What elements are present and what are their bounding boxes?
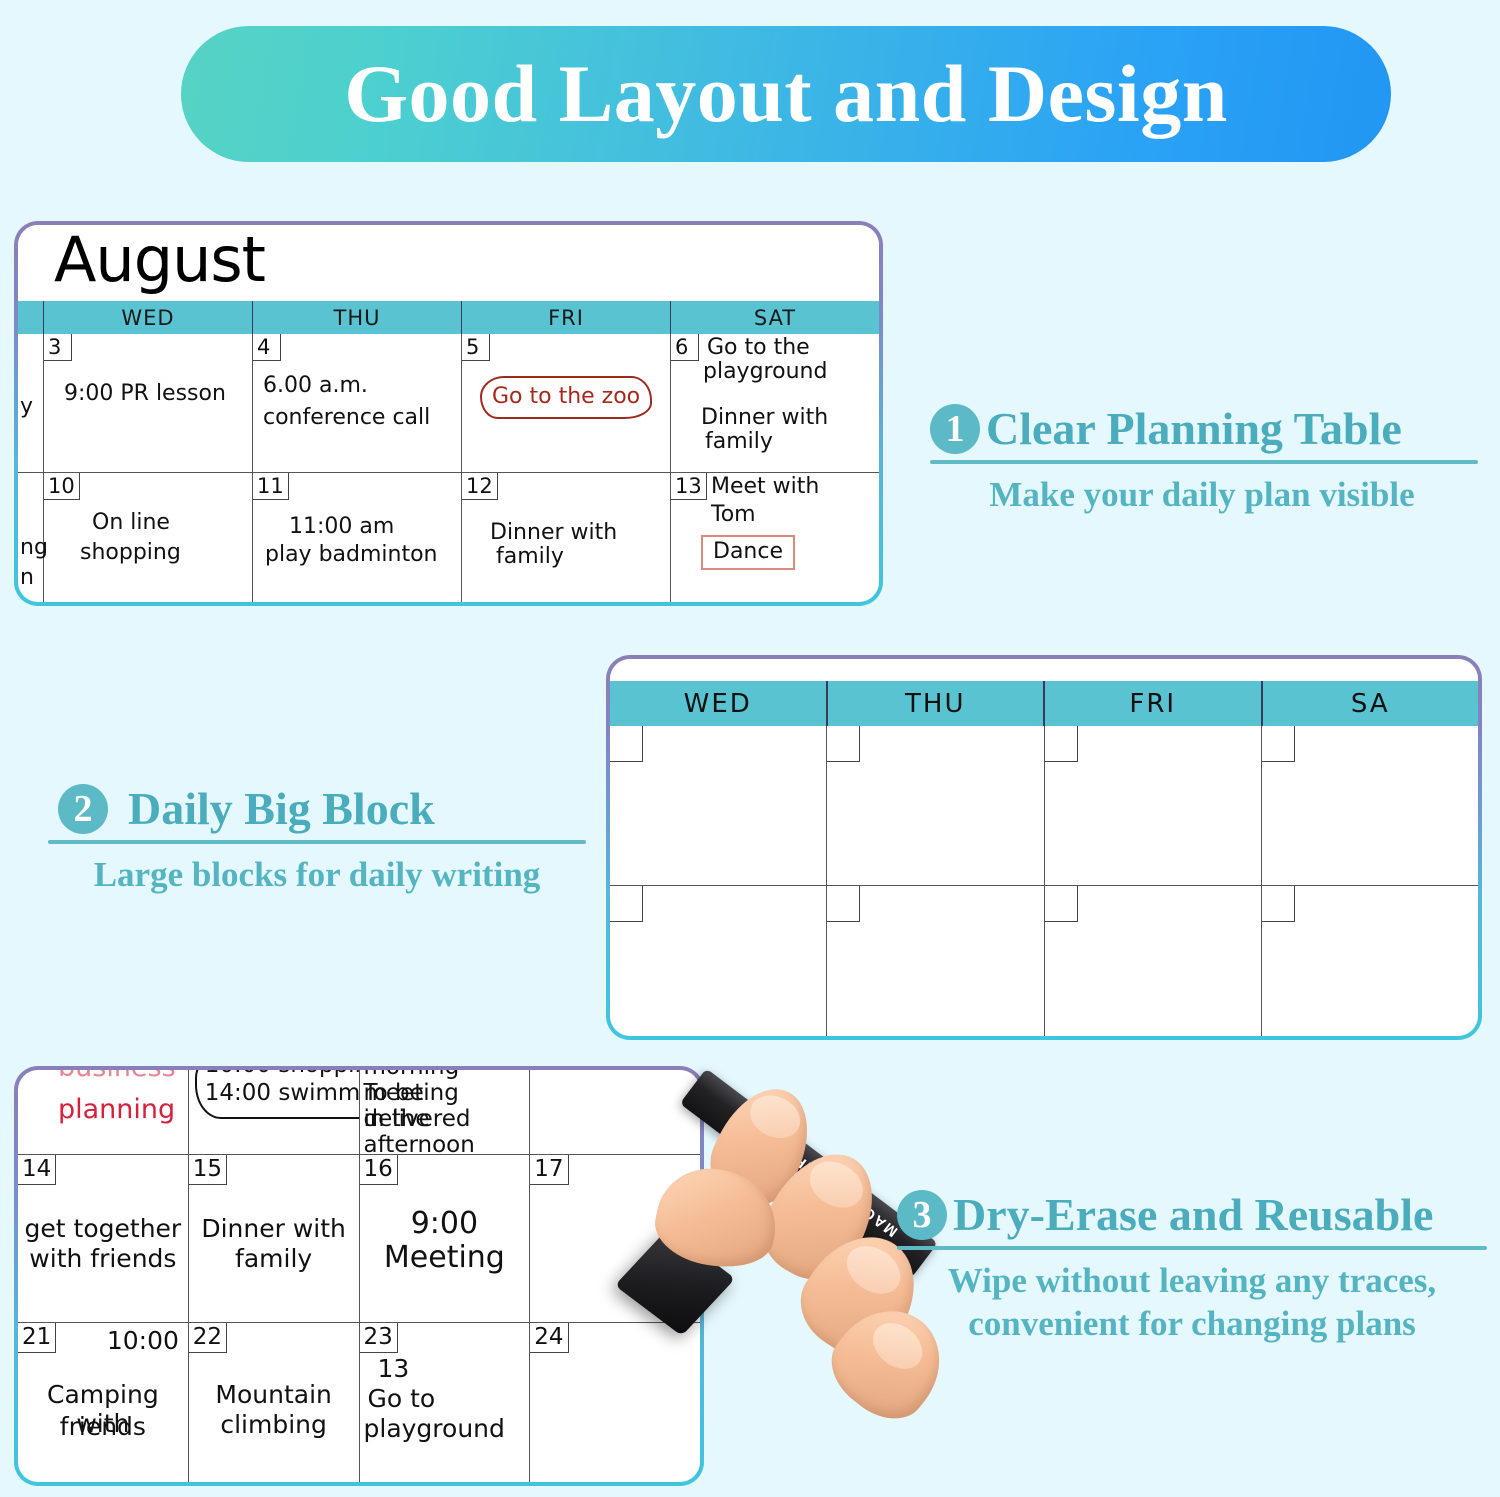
calendar-top-margin [610, 659, 1478, 681]
calendar-day-cell[interactable] [827, 886, 1044, 1037]
day-number-box [610, 886, 643, 922]
weekday-header-fri: FRI [1045, 681, 1263, 726]
day-number-box [827, 886, 860, 922]
feature-subtitle-line-1: Wipe without leaving any traces, [897, 1260, 1487, 1301]
annotation-line: 14:00 swimming [205, 1080, 360, 1108]
weekday-header-sat: SAT [671, 301, 879, 334]
event-text: Dinner with [490, 521, 617, 545]
feature-number-badge: 2 [58, 784, 108, 834]
event-text: 6.00 a.m. [263, 374, 368, 398]
calendar-week-row [610, 726, 1478, 886]
day-number: 12 [462, 473, 498, 500]
calendar-day-cell-10[interactable]: 10 On line shopping [44, 473, 253, 603]
event-text: get together [18, 1215, 188, 1244]
event-text-planning: planning [58, 1094, 175, 1125]
event-text: Go to the [707, 336, 810, 360]
calendar-day-cell-5[interactable]: 5 Go to the zoo [462, 334, 671, 472]
calendar-day-cell-4[interactable]: 4 6.00 a.m. conference call [253, 334, 462, 472]
calendar-day-cell-shopping-swimming[interactable]: 10:00 shopping 14:00 swimming [189, 1070, 360, 1154]
day-number: 6 [671, 334, 699, 361]
feature-divider [930, 460, 1478, 464]
calendar-day-cell-11[interactable]: 11 11:00 am play badminton [253, 473, 462, 603]
calendar-weekday-header-row: WED THU FRI SAT [18, 301, 879, 334]
finger-index [697, 1073, 827, 1219]
calendar-day-cell-12[interactable]: 12 Dinner with family [462, 473, 671, 603]
event-text: 9:00 [360, 1207, 530, 1242]
calendar-board-blank: WED THU FRI SA [606, 655, 1482, 1040]
day-number: 24 [530, 1323, 568, 1353]
feature-block-1: 1 Clear Planning Table Make your daily p… [930, 404, 1478, 515]
calendar-month-header: August [18, 225, 879, 301]
day-number-box [610, 726, 643, 762]
event-text: Meet with [711, 475, 819, 499]
feature-subtitle: Make your daily plan visible [930, 474, 1478, 515]
weekday-header-wed: WED [610, 681, 828, 726]
calendar-day-cell-22[interactable]: 22 Mountain climbing [189, 1323, 360, 1482]
event-text: in the afternoon [364, 1106, 531, 1154]
event-text: family [496, 545, 564, 569]
day-number: 22 [189, 1323, 227, 1353]
weekday-header-sat: SA [1263, 681, 1479, 726]
weekday-header-wed: WED [44, 301, 253, 334]
fingernail [743, 1087, 807, 1146]
header-banner: Good Layout and Design [181, 26, 1391, 162]
day-number-box [1045, 886, 1078, 922]
day-number: 11 [253, 473, 289, 500]
annotation-line: 10:00 shopping [205, 1070, 360, 1080]
event-text: family [705, 430, 773, 454]
day-number-box [827, 726, 860, 762]
event-text: Go to [360, 1385, 538, 1414]
event-text: playground [360, 1415, 534, 1444]
feature-title: Clear Planning Table [986, 406, 1402, 452]
calendar-day-cell[interactable] [610, 886, 827, 1037]
calendar-weekday-header-row: WED THU FRI SA [610, 681, 1478, 726]
calendar-day-cell[interactable] [610, 726, 827, 885]
event-text: Dinner with [701, 406, 828, 430]
calendar-day-cell[interactable] [1262, 726, 1478, 885]
event-text: Dinner with [189, 1215, 359, 1244]
calendar-day-cell-business-planning[interactable]: business planning [18, 1070, 189, 1154]
day-number: 4 [253, 334, 281, 361]
weekday-header-thu: THU [253, 301, 462, 334]
event-text: Tom [711, 503, 756, 527]
feature-number-badge: 1 [930, 404, 980, 454]
calendar-day-cell[interactable] [1045, 726, 1262, 885]
event-text: 9:00 PR lesson [64, 382, 226, 406]
calendar-day-cell-15[interactable]: 15 Dinner with family [189, 1155, 360, 1322]
row-edge-fragment-cell: y [18, 334, 44, 472]
day-number: 23 [360, 1323, 398, 1353]
event-text: Mountain [189, 1381, 359, 1410]
feature-heading: 3 Dry-Erase and Reusable [897, 1190, 1487, 1240]
feature-block-3: 3 Dry-Erase and Reusable Wipe without le… [897, 1190, 1487, 1345]
feature-divider [48, 840, 586, 844]
event-text-business: business [58, 1070, 176, 1083]
feature-subtitle-line-2: convenient for changing plans [897, 1303, 1487, 1344]
calendar-day-cell-23[interactable]: 23 13 Go to playground [360, 1323, 531, 1482]
day-number-box [1262, 726, 1295, 762]
calendar-week-row: 14 get together with friends 15 Dinner w… [18, 1155, 700, 1323]
calendar-day-cell-morning-meeting[interactable]: morning meeting To be delivered in the a… [360, 1070, 531, 1154]
month-label: August [54, 225, 265, 296]
day-number: 16 [360, 1155, 398, 1185]
calendar-day-cell-21[interactable]: 21 10:00 Camping with friends [18, 1323, 189, 1482]
finger-middle [747, 1135, 895, 1296]
calendar-day-cell-17[interactable]: 17 [530, 1155, 700, 1322]
event-text: playground [703, 360, 827, 384]
calendar-grid: 14 get together with friends 15 Dinner w… [18, 1155, 700, 1482]
calendar-day-cell-24[interactable]: 24 [530, 1323, 700, 1482]
calendar-day-cell[interactable] [1262, 886, 1478, 1037]
row-edge-fragment-cell: ng n [18, 473, 44, 603]
calendar-day-cell-16[interactable]: 16 9:00 Meeting [360, 1155, 531, 1322]
feature-block-2: 2 Daily Big Block Large blocks for daily… [48, 784, 586, 895]
calendar-day-cell-3[interactable]: 3 9:00 PR lesson [44, 334, 253, 472]
event-text: family [189, 1245, 359, 1274]
feature-subtitle: Large blocks for daily writing [48, 854, 586, 895]
weekday-header-fri: FRI [462, 301, 671, 334]
pen-label-text: MAGNETIC ERASABLE [731, 1106, 901, 1240]
calendar-day-cell[interactable] [1045, 886, 1262, 1037]
event-text: play badminton [265, 543, 438, 567]
edge-fragment-text: n [20, 565, 34, 590]
day-number: 5 [462, 334, 490, 361]
calendar-day-cell[interactable] [827, 726, 1044, 885]
day-number: 15 [189, 1155, 227, 1185]
event-text: with friends [18, 1245, 188, 1274]
calendar-week-row: y 3 9:00 PR lesson 4 6.00 a.m. conferenc… [18, 334, 879, 473]
calendar-partial-top-row: business planning 10:00 shopping 14:00 s… [18, 1070, 700, 1155]
day-number-box [1262, 886, 1295, 922]
calendar-week-row: 21 10:00 Camping with friends 22 Mountai… [18, 1323, 700, 1482]
calendar-day-cell-14[interactable]: 14 get together with friends [18, 1155, 189, 1322]
event-text: 13 [360, 1355, 548, 1384]
day-number: 3 [44, 334, 72, 361]
calendar-day-cell-partial[interactable] [530, 1070, 700, 1154]
event-text: shopping [80, 541, 181, 565]
feature-heading: 1 Clear Planning Table [930, 404, 1478, 454]
feature-divider [897, 1246, 1487, 1250]
feature-title: Daily Big Block [114, 786, 435, 832]
annotation-shopping-swimming: 10:00 shopping 14:00 swimming [195, 1070, 360, 1119]
calendar-day-cell-13[interactable]: 13 Meet with Tom Dance [671, 473, 879, 603]
day-number-box [1045, 726, 1078, 762]
feature-number-badge: 3 [897, 1190, 947, 1240]
calendar-day-cell-6[interactable]: 6 Go to the playground Dinner with famil… [671, 334, 879, 472]
day-number: 17 [530, 1155, 568, 1185]
day-number: 10 [44, 473, 80, 500]
feature-title: Dry-Erase and Reusable [953, 1192, 1433, 1238]
calendar-week-row [610, 886, 1478, 1037]
day-number: 14 [18, 1155, 56, 1185]
calendar-board-dryerase: business planning 10:00 shopping 14:00 s… [14, 1066, 704, 1486]
annotation-dance: Dance [701, 535, 795, 570]
day-number: 13 [671, 473, 707, 500]
annotation-go-to-the-zoo: Go to the zoo [480, 376, 652, 419]
page-title: Good Layout and Design [344, 53, 1228, 135]
fingernail [802, 1152, 871, 1216]
event-text: Meeting [360, 1241, 530, 1276]
event-text: climbing [189, 1411, 359, 1440]
event-text: conference call [263, 406, 430, 430]
calendar-grid [610, 726, 1478, 1036]
event-text: 11:00 am [289, 515, 394, 539]
event-text: friends [18, 1413, 188, 1442]
calendar-week-row: ng n 10 On line shopping 11 11:00 am pla… [18, 473, 879, 603]
calendar-grid: y 3 9:00 PR lesson 4 6.00 a.m. conferenc… [18, 334, 879, 602]
feature-heading: 2 Daily Big Block [48, 784, 586, 834]
weekday-header-stub [18, 301, 44, 334]
event-text: On line [92, 511, 170, 535]
edge-fragment-text: y [20, 394, 33, 419]
calendar-board-august: August WED THU FRI SAT y 3 9:00 PR lesso… [14, 221, 883, 606]
weekday-header-thu: THU [828, 681, 1046, 726]
